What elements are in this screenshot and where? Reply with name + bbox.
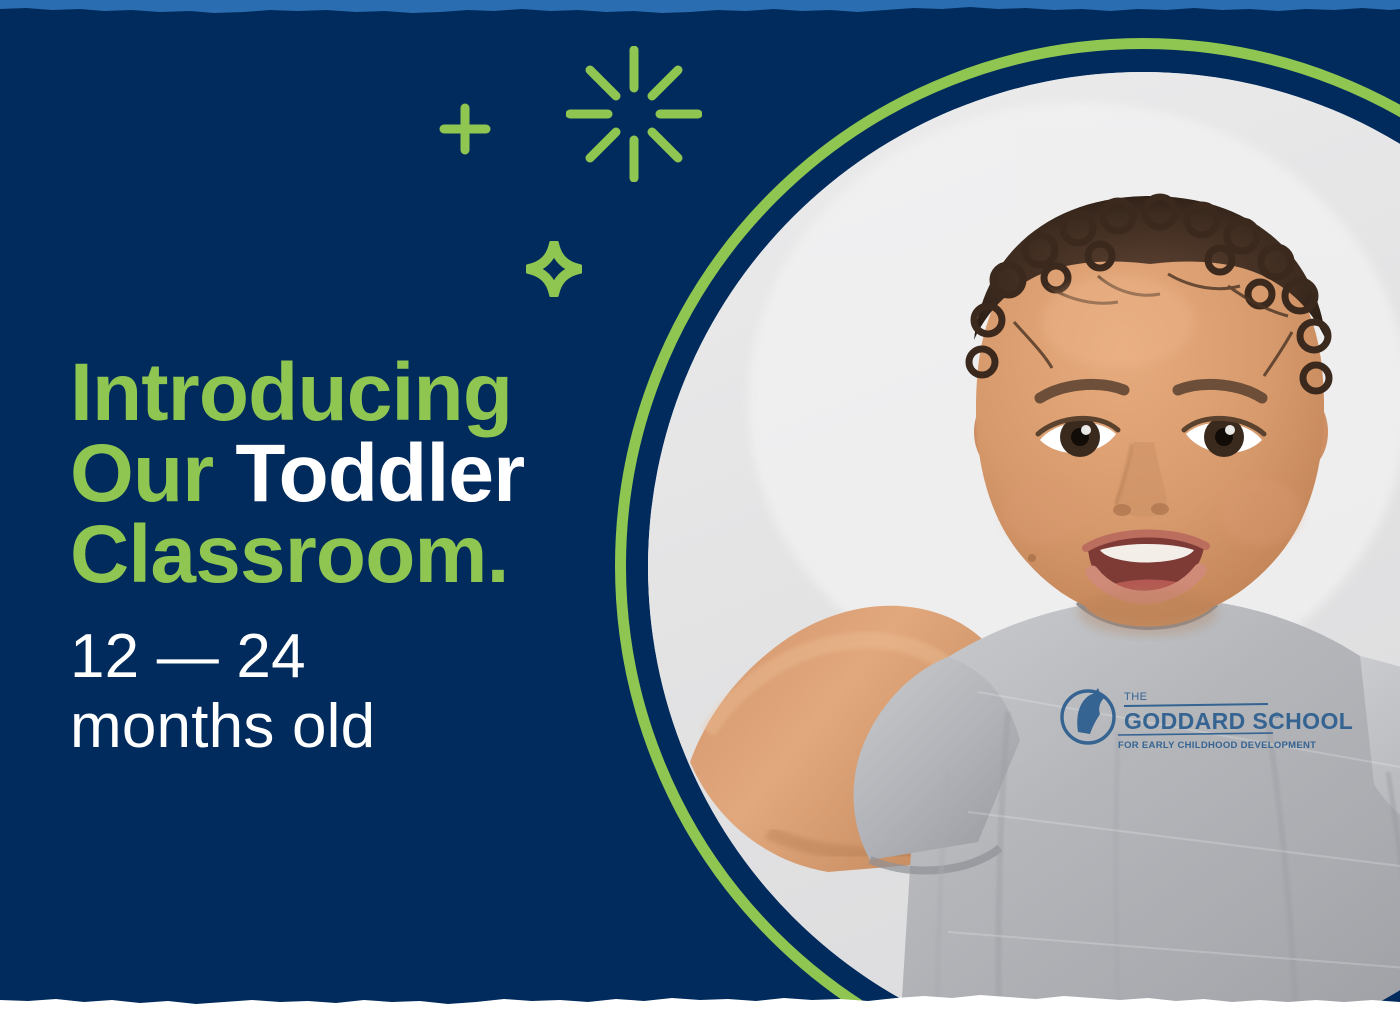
age-range-subhead: 12 — 24 months old <box>70 622 630 762</box>
plus-sparkle-icon <box>437 101 493 162</box>
toddler-classroom-banner: THE GODDARD SCHOOL ® FOR EARLY CHILDHOOD… <box>0 0 1400 1010</box>
headline-line-3: Classroom. <box>70 509 509 600</box>
starburst-sparkle-icon <box>566 46 702 187</box>
logo-registered-mark: ® <box>1274 711 1280 720</box>
logo-tagline-text: FOR EARLY CHILDHOOD DEVELOPMENT <box>1118 740 1316 751</box>
subhead-line-1: 12 — 24 <box>70 622 630 692</box>
diamond-sparkle-icon <box>526 241 582 302</box>
subhead-line-2: months old <box>70 692 630 762</box>
page-headline: Introducing Our Toddler Classroom. <box>70 352 630 596</box>
logo-name-text: GODDARD SCHOOL <box>1124 708 1353 734</box>
photo-composition: THE GODDARD SCHOOL ® FOR EARLY CHILDHOOD… <box>580 0 1400 1010</box>
headline-line-1: Introducing <box>70 347 512 438</box>
headline-block: Introducing Our Toddler Classroom. 12 — … <box>70 352 630 762</box>
logo-the-text: THE <box>1124 691 1148 703</box>
headline-line-2-white: Toddler <box>235 428 524 519</box>
headline-line-2-green: Our <box>70 428 235 519</box>
